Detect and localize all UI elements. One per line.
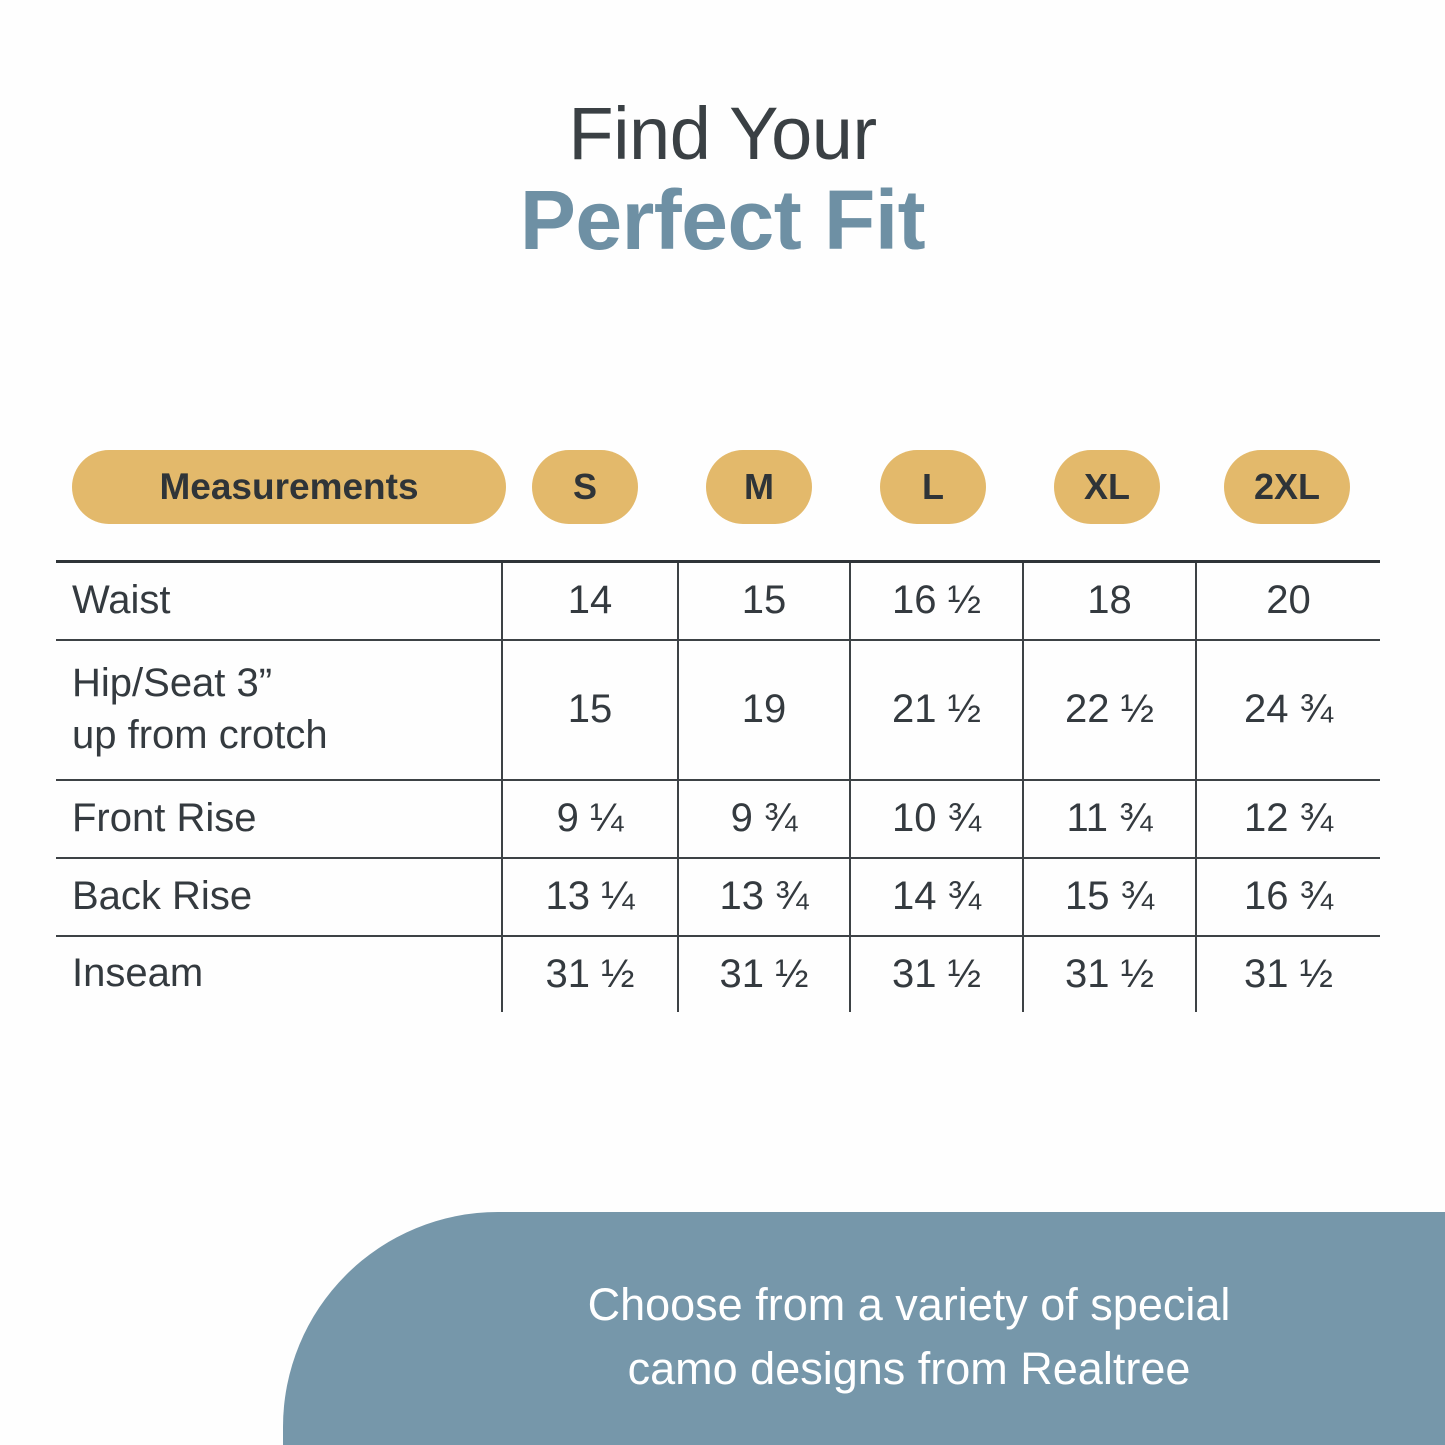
header-pill-size-s: S <box>532 450 638 524</box>
cell-inseam-m: 31 ½ <box>678 936 850 1012</box>
cell-hip-seat-s: 15 <box>502 640 678 780</box>
cell-front-rise-2xl: 12 ¾ <box>1196 780 1380 858</box>
row-label-hip-seat-line2: up from crotch <box>72 713 328 757</box>
cell-front-rise-l: 10 ¾ <box>850 780 1023 858</box>
cell-waist-l: 16 ½ <box>850 562 1023 640</box>
promo-banner-line1: Choose from a variety of special <box>588 1279 1231 1330</box>
cell-back-rise-l: 14 ¾ <box>850 858 1023 936</box>
cell-waist-2xl: 20 <box>1196 562 1380 640</box>
promo-banner-line2: camo designs from Realtree <box>628 1343 1191 1394</box>
row-label-hip-seat: Hip/Seat 3” up from crotch <box>56 640 502 780</box>
table-row: Waist 14 15 16 ½ 18 20 <box>56 562 1380 640</box>
page-title-line2: Perfect Fit <box>0 171 1445 270</box>
cell-inseam-xl: 31 ½ <box>1023 936 1196 1012</box>
row-label-front-rise: Front Rise <box>56 780 502 858</box>
cell-back-rise-m: 13 ¾ <box>678 858 850 936</box>
header-pill-size-2xl: 2XL <box>1224 450 1350 524</box>
cell-hip-seat-2xl: 24 ¾ <box>1196 640 1380 780</box>
cell-front-rise-xl: 11 ¾ <box>1023 780 1196 858</box>
page-title-line1: Find Your <box>0 96 1445 171</box>
row-label-waist: Waist <box>56 562 502 640</box>
cell-inseam-l: 31 ½ <box>850 936 1023 1012</box>
cell-back-rise-s: 13 ¼ <box>502 858 678 936</box>
cell-waist-m: 15 <box>678 562 850 640</box>
table-row: Inseam 31 ½ 31 ½ 31 ½ 31 ½ 31 ½ <box>56 936 1380 1012</box>
promo-banner: Choose from a variety of special camo de… <box>283 1212 1445 1445</box>
size-chart-header-row: Measurements S M L XL 2XL <box>56 450 1380 524</box>
cell-front-rise-s: 9 ¼ <box>502 780 678 858</box>
size-chart-table: Waist 14 15 16 ½ 18 20 Hip/Seat 3” up fr… <box>56 560 1380 1012</box>
table-row: Back Rise 13 ¼ 13 ¾ 14 ¾ 15 ¾ 16 ¾ <box>56 858 1380 936</box>
page-title: Find Your Perfect Fit <box>0 96 1445 271</box>
cell-back-rise-xl: 15 ¾ <box>1023 858 1196 936</box>
header-pill-size-l: L <box>880 450 986 524</box>
cell-hip-seat-m: 19 <box>678 640 850 780</box>
row-label-hip-seat-line1: Hip/Seat 3” <box>72 661 272 705</box>
header-pill-size-m: M <box>706 450 812 524</box>
cell-hip-seat-xl: 22 ½ <box>1023 640 1196 780</box>
header-pill-size-xl: XL <box>1054 450 1160 524</box>
cell-inseam-2xl: 31 ½ <box>1196 936 1380 1012</box>
header-pill-measurements: Measurements <box>72 450 506 524</box>
cell-waist-xl: 18 <box>1023 562 1196 640</box>
cell-inseam-s: 31 ½ <box>502 936 678 1012</box>
cell-waist-s: 14 <box>502 562 678 640</box>
row-label-inseam: Inseam <box>56 936 502 1012</box>
cell-hip-seat-l: 21 ½ <box>850 640 1023 780</box>
cell-back-rise-2xl: 16 ¾ <box>1196 858 1380 936</box>
promo-banner-text: Choose from a variety of special camo de… <box>404 1273 1414 1401</box>
cell-front-rise-m: 9 ¾ <box>678 780 850 858</box>
row-label-back-rise: Back Rise <box>56 858 502 936</box>
table-row: Hip/Seat 3” up from crotch 15 19 21 ½ 22… <box>56 640 1380 780</box>
table-row: Front Rise 9 ¼ 9 ¾ 10 ¾ 11 ¾ 12 ¾ <box>56 780 1380 858</box>
